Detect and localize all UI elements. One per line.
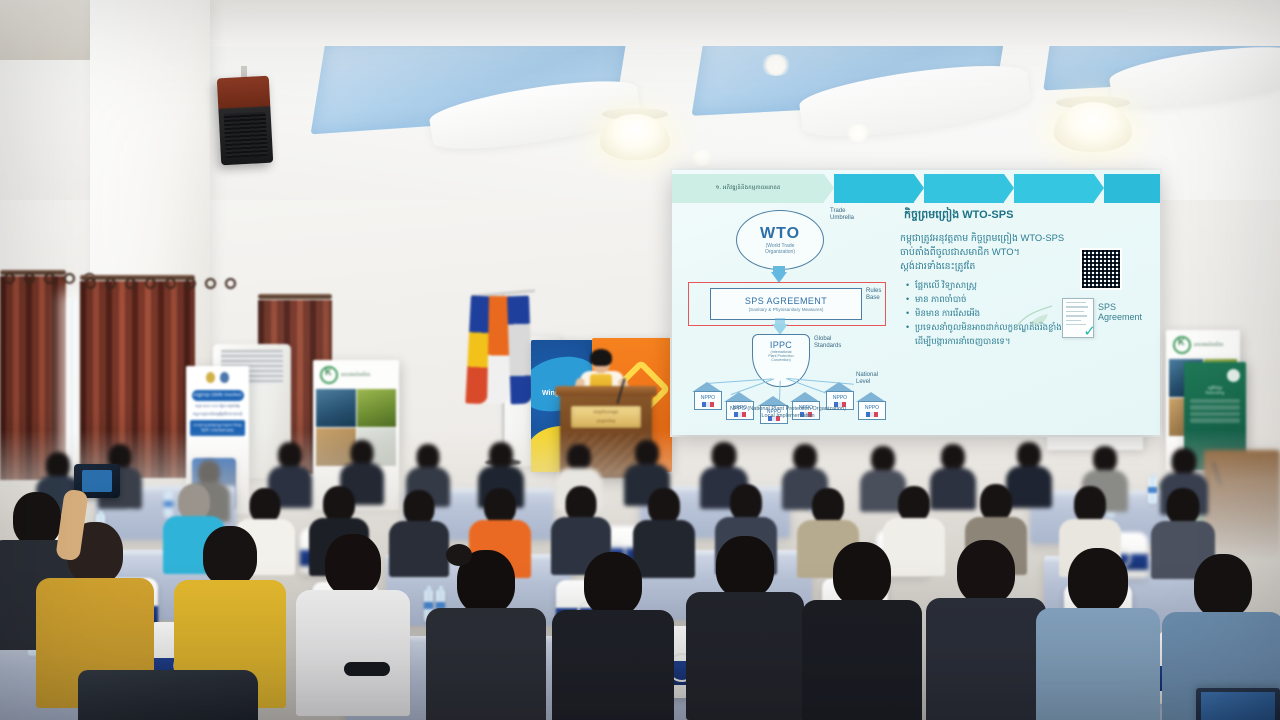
seal-gold-icon [206, 372, 215, 383]
national-level-note: National Level [856, 372, 878, 386]
ribbon-step-4-label: លទ្ធផលដែល ទទួលបាន [1113, 182, 1151, 196]
qr-code-icon [1080, 248, 1122, 290]
pa-loudspeaker-icon [217, 76, 273, 166]
kc-logo-right: សហគមន៍កសិករ [1166, 330, 1240, 354]
nppo-caption: NPPO (National Plant Protection Organiza… [690, 406, 886, 421]
kc-logo: សហគមន៍កសិករ [313, 360, 399, 384]
wto-node: WTO (World Trade Organization) [736, 210, 824, 270]
ribbon-step-2-label: សម្រាបការ នាំចូល [948, 182, 980, 196]
ribbon-step-1: សម្រាបការ នាំចេញ [834, 174, 914, 203]
slide-heading: កិច្ចព្រមព្រៀង WTO-SPS [904, 208, 1152, 224]
slide-progress-ribbon: ១. អភិវឌ្ឍន៍និងកម្មភាពអនាគត សម្រាបការ នា… [672, 174, 1160, 203]
downlight-1 [760, 54, 792, 76]
ribbon-step-2: សម្រាបការ នាំចូល [924, 174, 1004, 203]
podium-plaque: រាជរដ្ឋាភិបាលកម្ពុជា ក្រសួងកសិកម្ម [571, 406, 641, 428]
nppo-label: NPPO [701, 395, 715, 401]
rules-base-note: Rules Base [866, 288, 881, 302]
sps-subtitle: (Sanitary & Phytosanitary Measures) [749, 307, 824, 312]
presentation-slide: ១. អភិវឌ្ឍន៍និងកម្មភាពអនាគត សម្រាបការ នា… [672, 170, 1160, 435]
ribbon-step-4: លទ្ធផលដែល ទទួលបាន [1104, 174, 1160, 203]
wto-acronym: WTO [760, 225, 800, 243]
sps-node: SPS AGREEMENT (Sanitary & Phytosanitary … [710, 288, 862, 320]
ribbon-step-0: ១. អភិវឌ្ឍន៍និងកម្មភាពអនាគត [672, 174, 824, 203]
seal-blue-icon [220, 372, 229, 383]
slide-paragraph-line: កម្ពុជាត្រូវអនុវត្តតាម កិច្ចព្រមព្រៀង WT… [900, 231, 1152, 245]
pendant-light-2 [1054, 102, 1132, 152]
nppo-label: NPPO [833, 395, 847, 401]
trade-umbrella-note: Trade Umbrella [830, 208, 854, 222]
sps-title: SPS AGREEMENT [745, 296, 827, 306]
kc-logo-text: សហគមន៍កសិករ [341, 372, 370, 378]
ippc-acronym: IPPC [770, 340, 792, 350]
skills-voucher-pill: សញ្ញាបត្រ (Skills Voucher) [192, 390, 244, 401]
upper-wall-strip [200, 0, 1280, 46]
kc-logo-text-right: សហគមន៍កសិករ [1194, 342, 1223, 348]
ribbon-step-3: សម្រាបការ នាំផ្លូវការ [1014, 174, 1094, 203]
sps-agreement-caption: SPS Agreement [1098, 302, 1150, 323]
skills-amount-line: រហូត ៣០០ ០០០ រៀល សម្រាប់វគ្គ [186, 401, 249, 409]
slide-text-column: កិច្ចព្រមព្រៀង WTO-SPS កម្ពុជាត្រូវអនុវត… [898, 206, 1152, 430]
projection-screen: ១. អភិវឌ្ឍន៍និងកម្មភាពអនាគត សម្រាបការ នា… [672, 170, 1160, 435]
nppo-node: NPPO [692, 382, 722, 408]
banner-seals [186, 366, 249, 388]
teal-headline: កម្មវិធីគាំទ្រ វិស័យកសិកម្ម [1184, 382, 1246, 397]
nppo-node: NPPO [824, 382, 854, 408]
podium-plaque-line1: រាជរដ្ឋាភិបាលកម្ពុជា [571, 406, 641, 415]
ribbon-step-0-label: ១. អភិវឌ្ឍន៍និងកម្មភាពអនាគត [711, 185, 784, 192]
podium-plaque-line2: ក្រសួងកសិកម្ម [571, 415, 641, 424]
teal-seal-icon [1227, 369, 1240, 382]
ceiling-beam-left [0, 0, 95, 60]
checkmark-icon: ✓ [1083, 324, 1096, 339]
skills-sub-line: បណ្តុះបណ្តាលជំនាញវិជ្ជាជីវៈរយៈពេលខ្លី [186, 409, 249, 417]
kc-ring-icon-3 [1173, 336, 1191, 354]
ippc-expansion: (International Plant Protection Conventi… [768, 351, 793, 362]
foreground-shadow [0, 560, 1280, 720]
pendant-light-1 [600, 114, 670, 160]
global-standards-note: Global Standards [814, 336, 841, 350]
conference-hall-photo: សញ្ញាបត្រ (Skills Voucher) រហូត ៣០០ ០០០ … [0, 0, 1280, 720]
eco-graphic [1010, 298, 1056, 334]
ribbon-step-1-label: សម្រាបការ នាំចេញ [858, 182, 890, 196]
ribbon-step-3-label: សម្រាបការ នាំផ្លូវការ [1038, 182, 1070, 196]
downlight-3 [690, 150, 714, 166]
wto-expansion: (World Trade Organization) [765, 244, 795, 255]
sps-hierarchy-diagram: WTO (World Trade Organization) Trade Umb… [680, 206, 896, 428]
kc-ring-icon [320, 366, 338, 384]
downlight-2 [845, 124, 871, 142]
